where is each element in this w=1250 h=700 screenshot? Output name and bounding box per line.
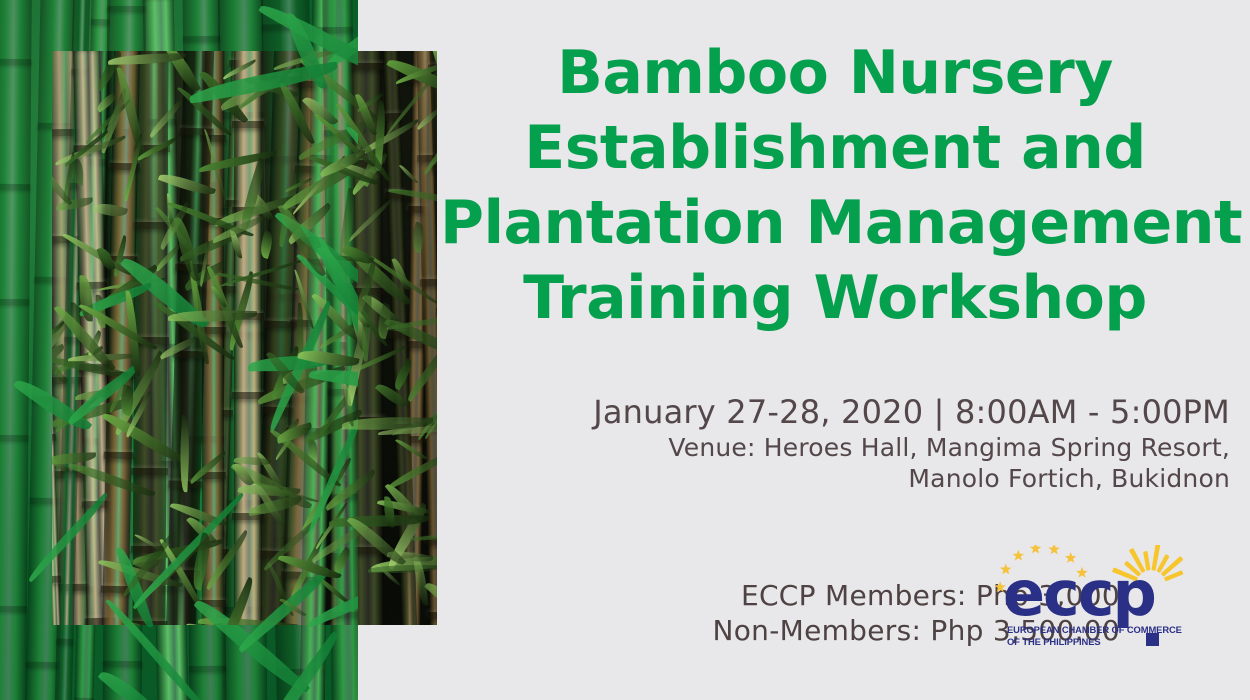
sun-ray-icon: [1165, 572, 1181, 580]
bamboo-node: [183, 36, 220, 42]
eccp-square-accent: [1146, 633, 1159, 646]
eu-star-icon: [1048, 545, 1059, 554]
bamboo-node: [436, 306, 437, 314]
bamboo-node: [179, 127, 214, 135]
schedule-block: January 27-28, 2020 | 8:00AM - 5:00PM Ve…: [440, 392, 1230, 494]
poster-canvas: Bamboo Nursery Establishment and Plantat…: [0, 0, 1250, 700]
title-line-2: Establishment and: [440, 111, 1230, 186]
eccp-logo-svg: eccp EUROPEAN CHAMBER OF COMMERCE OF THE…: [985, 545, 1210, 665]
eu-star-icon: [1030, 545, 1041, 554]
bamboo-node: [103, 661, 142, 667]
bamboo-node: [107, 6, 146, 12]
bamboo-node: [52, 575, 62, 582]
bamboo-node: [132, 222, 169, 229]
bamboo-photo: [52, 51, 437, 625]
bamboo-node: [0, 184, 30, 190]
title-line-1: Bamboo Nursery: [440, 36, 1230, 111]
venue-line-2: Manolo Fortich, Bukidnon: [440, 463, 1230, 494]
title-line-4: Training Workshop: [440, 261, 1230, 336]
bamboo-node: [52, 434, 57, 441]
bamboo-node: [131, 468, 168, 475]
bamboo-node: [0, 299, 29, 305]
eccp-tagline-line-2: OF THE PHILIPPINES: [1007, 636, 1101, 647]
bamboo-node: [0, 434, 28, 440]
bamboo-node: [104, 452, 134, 460]
content-column: Bamboo Nursery Establishment and Plantat…: [440, 0, 1250, 700]
bamboo-node: [56, 638, 73, 644]
bamboo-node: [420, 279, 437, 286]
bamboo-node: [0, 59, 31, 65]
bamboo-node: [0, 606, 27, 612]
eccp-logo: eccp EUROPEAN CHAMBER OF COMMERCE OF THE…: [985, 545, 1210, 665]
page-title: Bamboo Nursery Establishment and Plantat…: [440, 36, 1230, 336]
bamboo-node: [427, 612, 437, 619]
eccp-wordmark: eccp: [1003, 557, 1155, 630]
venue-line-1: Venue: Heroes Hall, Mangima Spring Resor…: [440, 432, 1230, 463]
bamboo-node: [232, 121, 264, 128]
bamboo-node: [189, 666, 226, 672]
event-date-time: January 27-28, 2020 | 8:00AM - 5:00PM: [440, 392, 1230, 432]
title-line-3: Plantation Management: [440, 186, 1230, 261]
